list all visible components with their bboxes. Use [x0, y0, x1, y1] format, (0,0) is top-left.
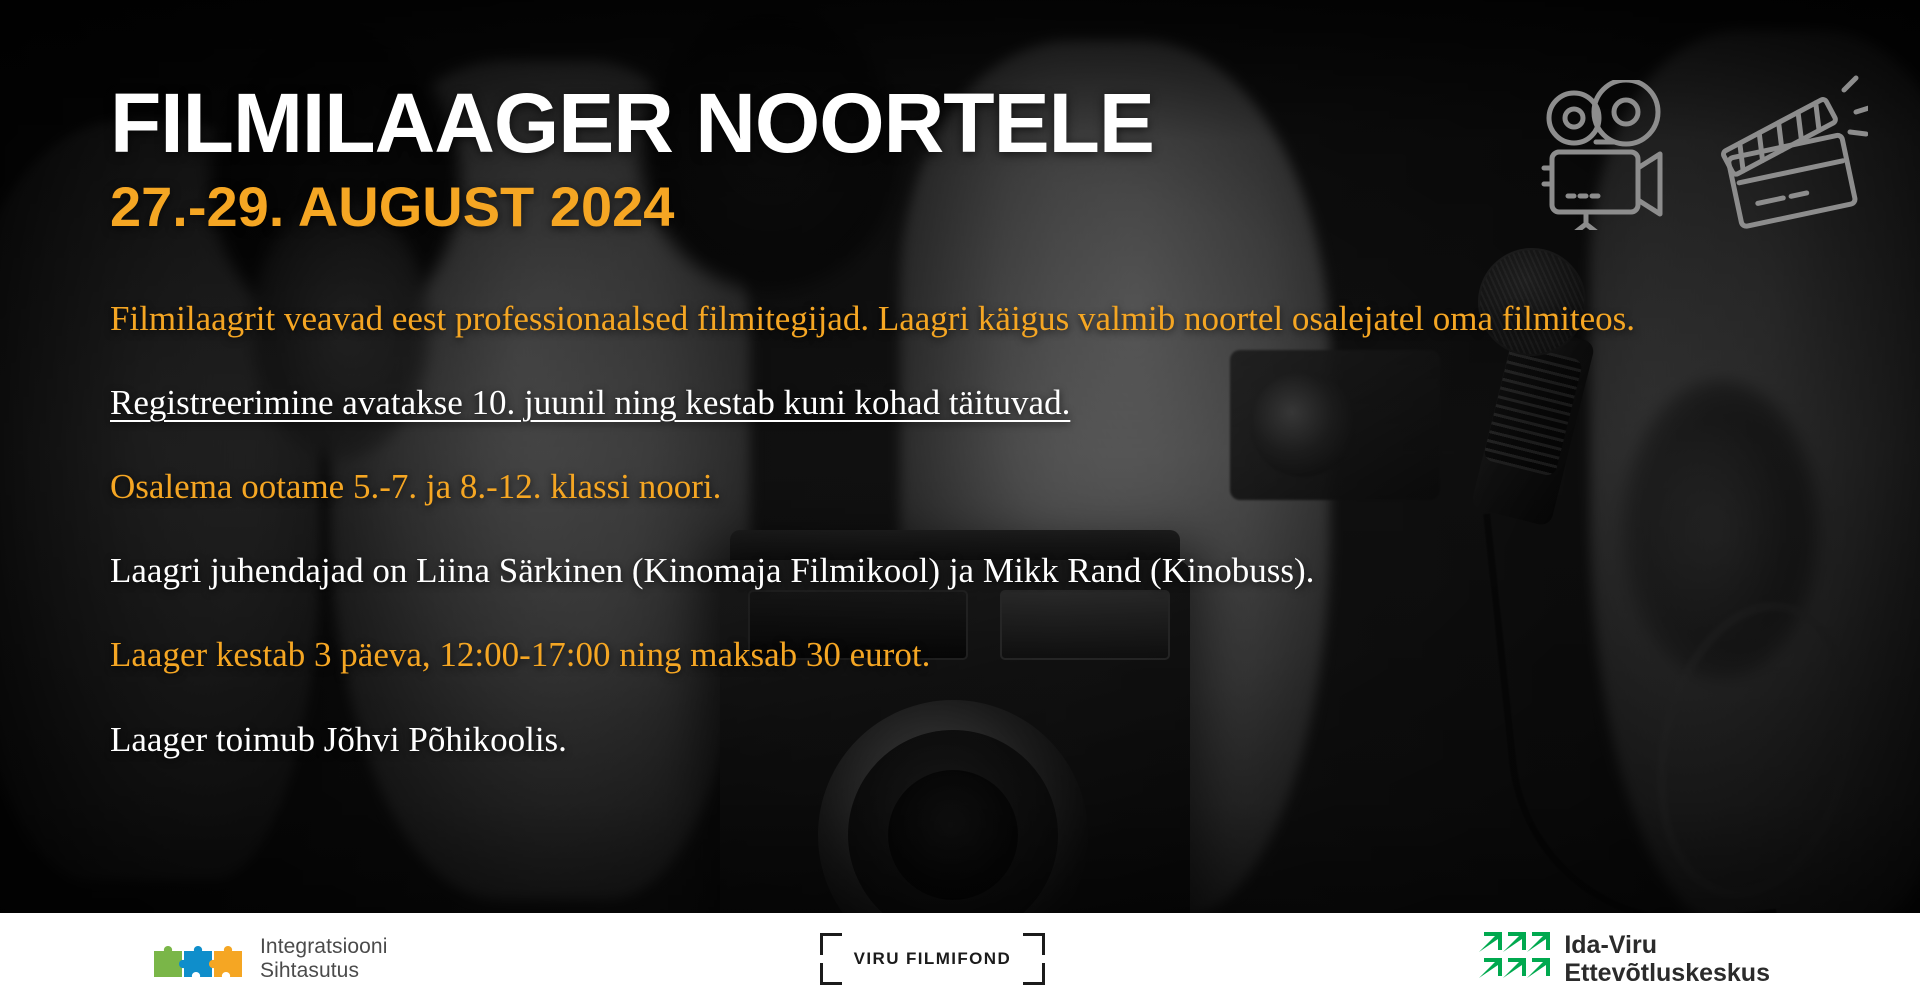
footer-logo-bar: Integratsiooni Sihtasutus VIRU FILMIFOND — [0, 913, 1920, 1005]
ivek-line1: Ida-Viru — [1564, 931, 1657, 959]
isf-line2: Sihtasutus — [260, 959, 359, 982]
page-title: FILMILAAGER NOORTELE — [110, 82, 1860, 164]
green-arrows-icon — [1477, 932, 1551, 987]
logo-ida-viru-ettevotluskeskus-text: Ida-Viru Ettevõtluskeskus — [1564, 931, 1770, 987]
logo-integratsiooni-sihtasutus: Integratsiooni Sihtasutus — [150, 935, 387, 984]
logo-integratsiooni-sihtasutus-text: Integratsiooni Sihtasutus — [260, 935, 387, 984]
puzzle-pieces-icon — [150, 937, 246, 981]
logo-viru-filmifond: VIRU FILMIFOND — [820, 933, 1045, 985]
paragraph-intro: Filmilaagrit veavad eest professionaalse… — [110, 297, 1800, 341]
paragraph-price: Laager kestab 3 päeva, 12:00-17:00 ning … — [110, 633, 1810, 677]
paragraph-classes: Osalema ootame 5.-7. ja 8.-12. klassi no… — [110, 465, 1810, 509]
logo-viru-filmifond-text: VIRU FILMIFOND — [854, 949, 1011, 969]
film-frame-bracket-top-right — [1023, 933, 1045, 955]
paragraph-leaders: Laagri juhendajad on Liina Särkinen (Kin… — [110, 549, 1810, 593]
film-frame-bracket-bottom-left — [820, 963, 842, 985]
poster: FILMILAAGER NOORTELE 27.-29. AUGUST 2024… — [0, 0, 1920, 1005]
poster-body: Filmilaagrit veavad eest professionaalse… — [110, 297, 1810, 762]
logo-ida-viru-ettevotluskeskus: Ida-Viru Ettevõtluskeskus — [1477, 931, 1770, 987]
film-frame-bracket-bottom-right — [1023, 963, 1045, 985]
isf-line1: Integratsiooni — [260, 935, 387, 958]
film-frame-bracket-top-left — [820, 933, 842, 955]
event-dates: 27.-29. AUGUST 2024 — [110, 178, 1860, 237]
ivek-line2: Ettevõtluskeskus — [1564, 959, 1770, 987]
poster-content: FILMILAAGER NOORTELE 27.-29. AUGUST 2024… — [110, 82, 1860, 762]
paragraph-location: Laager toimub Jõhvi Põhikoolis. — [110, 718, 1810, 762]
paragraph-registration: Registreerimine avatakse 10. juunil ning… — [110, 381, 1810, 425]
